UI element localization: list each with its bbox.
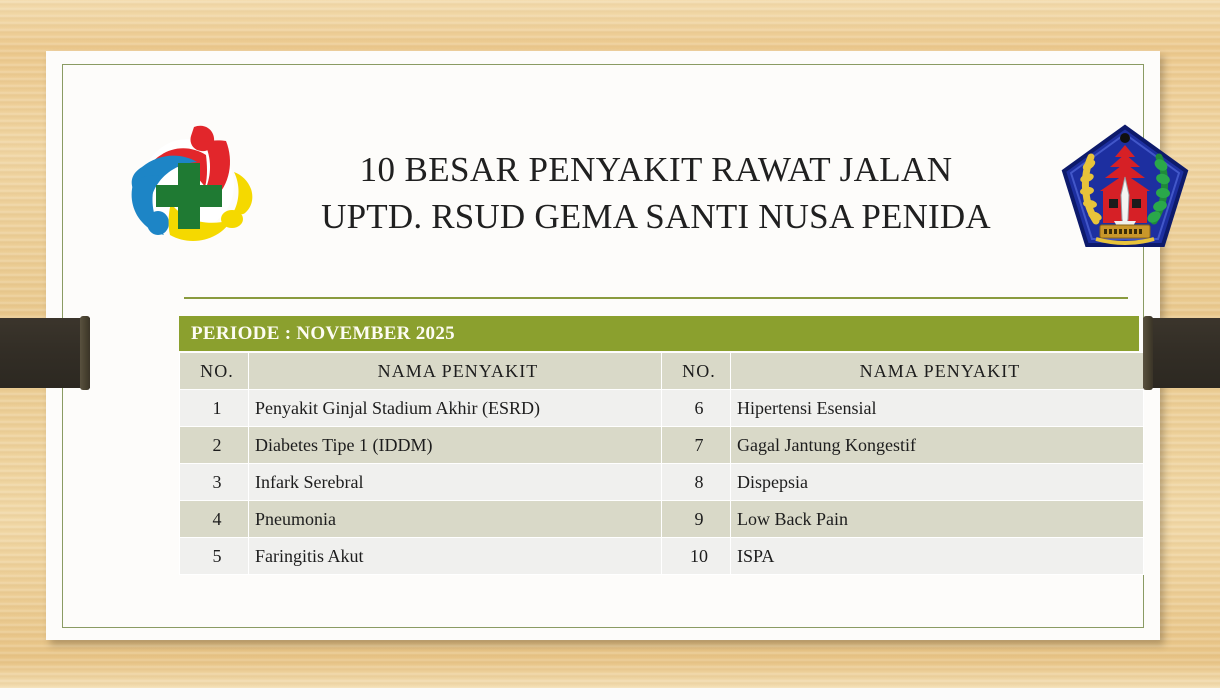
row-no: 6 xyxy=(662,390,730,426)
row-name: Infark Serebral xyxy=(249,464,661,500)
row-no: 3 xyxy=(180,464,248,500)
row-name: ISPA xyxy=(731,538,1143,574)
decorative-strap-right xyxy=(1143,318,1220,388)
table-header-row: NO. NAMA PENYAKIT NO. NAMA PENYAKIT xyxy=(180,353,1143,389)
row-no: 1 xyxy=(180,390,248,426)
row-no: 5 xyxy=(180,538,248,574)
header-name-right: NAMA PENYAKIT xyxy=(731,353,1143,389)
header-no-right: NO. xyxy=(662,353,730,389)
strap-cap-left xyxy=(80,316,90,390)
row-name: Dispepsia xyxy=(731,464,1143,500)
table-row: 2 Diabetes Tipe 1 (IDDM) 7 Gagal Jantung… xyxy=(180,427,1143,463)
page-title-line-2: UPTD. RSUD GEMA SANTI NUSA PENIDA xyxy=(261,194,1051,241)
row-name: Faringitis Akut xyxy=(249,538,661,574)
row-no: 10 xyxy=(662,538,730,574)
page-title-line-1: 10 BESAR PENYAKIT RAWAT JALAN xyxy=(261,147,1051,194)
row-no: 8 xyxy=(662,464,730,500)
period-banner: PERIODE : NOVEMBER 2025 xyxy=(179,316,1139,351)
title-divider xyxy=(184,297,1128,299)
row-name: Diabetes Tipe 1 (IDDM) xyxy=(249,427,661,463)
row-name: Gagal Jantung Kongestif xyxy=(731,427,1143,463)
header-name-left: NAMA PENYAKIT xyxy=(249,353,661,389)
health-care-logo xyxy=(122,119,254,251)
slide-card: 10 BESAR PENYAKIT RAWAT JALAN UPTD. RSUD… xyxy=(46,51,1160,640)
table-row: 4 Pneumonia 9 Low Back Pain xyxy=(180,501,1143,537)
strap-cap-right xyxy=(1143,316,1153,390)
table-row: 3 Infark Serebral 8 Dispepsia xyxy=(180,464,1143,500)
row-name: Low Back Pain xyxy=(731,501,1143,537)
row-no: 2 xyxy=(180,427,248,463)
row-name: Hipertensi Esensial xyxy=(731,390,1143,426)
row-name: Penyakit Ginjal Stadium Akhir (ESRD) xyxy=(249,390,661,426)
decorative-strap-left xyxy=(0,318,90,388)
row-no: 4 xyxy=(180,501,248,537)
header-no-left: NO. xyxy=(180,353,248,389)
klungkung-regency-emblem xyxy=(1058,121,1192,255)
table-row: 1 Penyakit Ginjal Stadium Akhir (ESRD) 6… xyxy=(180,390,1143,426)
row-name: Pneumonia xyxy=(249,501,661,537)
slide-stage: 10 BESAR PENYAKIT RAWAT JALAN UPTD. RSUD… xyxy=(0,0,1220,700)
disease-table: NO. NAMA PENYAKIT NO. NAMA PENYAKIT 1 Pe… xyxy=(179,352,1139,575)
row-no: 7 xyxy=(662,427,730,463)
page-title: 10 BESAR PENYAKIT RAWAT JALAN UPTD. RSUD… xyxy=(261,147,1051,240)
row-no: 9 xyxy=(662,501,730,537)
table-row: 5 Faringitis Akut 10 ISPA xyxy=(180,538,1143,574)
slide-header: 10 BESAR PENYAKIT RAWAT JALAN UPTD. RSUD… xyxy=(46,51,1160,251)
